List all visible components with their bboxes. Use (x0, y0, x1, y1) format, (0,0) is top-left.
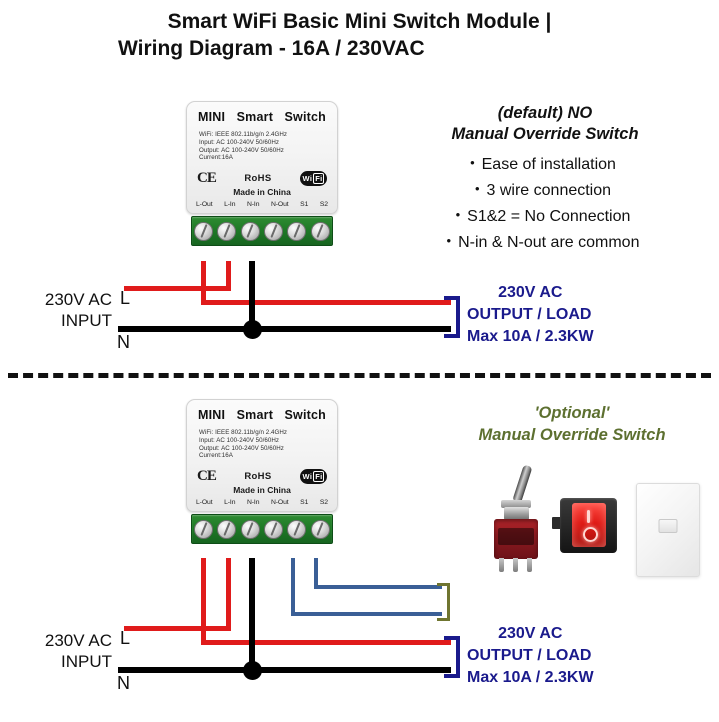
neutral-junction-dot-top (243, 320, 262, 339)
title-line-2: Wiring Diagram - 16A / 230VAC (0, 35, 719, 62)
top-live-label: L (120, 288, 130, 309)
spec-current: Current:16A (199, 154, 329, 162)
ce-mark-icon: CE (197, 170, 216, 187)
module-body-bottom: MINI Smart Switch WiFi: IEEE 802.11b/g/n… (186, 399, 338, 512)
brand-word-mini: MINI (198, 110, 225, 124)
top-output-line-2: OUTPUT / LOAD (467, 304, 594, 326)
output-bracket-top (444, 296, 460, 338)
bottom-heading-line-2: Manual Override Switch (425, 424, 719, 446)
ce-mark-icon: CE (197, 468, 216, 485)
terminal-labels-top: L-Out L-In N-In N-Out S1 S2 (195, 201, 329, 208)
wall-plate-switch-photo[interactable] (636, 483, 700, 577)
spec-current: Current:16A (199, 452, 329, 460)
wire-s1-horizontal-bottom (314, 585, 442, 589)
rocker-switch-photo (552, 495, 624, 557)
brand-word-smart: Smart (237, 110, 273, 124)
wire-s1-vertical-bottom (314, 558, 318, 588)
wire-neutral-vertical-top (249, 261, 255, 329)
spec-input: Input: AC 100-240V 50/60Hz (199, 437, 329, 445)
bottom-output-line-1: 230V AC (467, 623, 594, 645)
wire-l-out-vertical-bottom (201, 558, 206, 644)
page-title: Smart WiFi Basic Mini Switch Module | Wi… (0, 8, 719, 62)
terminal-label-l-out: L-Out (196, 201, 213, 208)
rocker-on-bar-icon (587, 510, 590, 523)
bullet-item: 3 wire connection (375, 177, 711, 203)
spec-output: Output: AC 100-240V 50/60Hz (199, 445, 329, 453)
spec-input: Input: AC 100-240V 50/60Hz (199, 139, 329, 147)
wifi-logo-wi: Wi (303, 174, 313, 183)
terminal-label-s2: S2 (320, 201, 328, 208)
brand-word-mini: MINI (198, 408, 225, 422)
terminal-label-l-out: L-Out (196, 499, 213, 506)
module-brand-row-top: MINI Smart Switch (195, 109, 329, 124)
terminal-screw-icon (217, 222, 236, 241)
top-input-label: 230V AC INPUT (0, 289, 112, 331)
wire-l-in-vertical-bottom (226, 558, 231, 630)
bottom-neutral-label: N (117, 673, 130, 694)
module-marks-row-bottom: CE RoHS WiFi (195, 467, 329, 486)
terminal-label-s1: S1 (300, 201, 308, 208)
toggle-pin-icon (527, 558, 532, 572)
module-body-top: MINI Smart Switch WiFi: IEEE 802.11b/g/n… (186, 101, 338, 214)
spec-wifi: WiFi: IEEE 802.11b/g/n 2.4GHz (199, 131, 329, 139)
neutral-junction-dot-bottom (243, 661, 262, 680)
brand-word-smart: Smart (237, 408, 273, 422)
terminal-screw-icon (241, 222, 260, 241)
terminal-label-n-in: N-In (247, 499, 259, 506)
toggle-body-icon (494, 519, 538, 559)
bottom-live-label: L (120, 628, 130, 649)
bullet-item: S1&2 = No Connection (375, 203, 711, 229)
toggle-switch-photo (486, 462, 546, 572)
bullet-item: Ease of installation (375, 151, 711, 177)
terminal-labels-bottom: L-Out L-In N-In N-Out S1 S2 (195, 499, 329, 506)
terminal-screw-icon (311, 520, 330, 539)
wire-live-output-horizontal-top (201, 300, 451, 305)
module-brand-row-bottom: MINI Smart Switch (195, 407, 329, 422)
rohs-label: RoHS (244, 173, 271, 184)
terminal-label-s1: S1 (300, 499, 308, 506)
terminal-block-top (191, 216, 333, 246)
top-output-label: 230V AC OUTPUT / LOAD Max 10A / 2.3KW (467, 282, 594, 348)
override-switch-bracket (437, 583, 450, 621)
wire-neutral-horizontal-top (118, 326, 451, 332)
brand-word-switch: Switch (285, 408, 326, 422)
module-specs-top: WiFi: IEEE 802.11b/g/n 2.4GHz Input: AC … (195, 131, 329, 162)
top-bullet-list: Ease of installation 3 wire connection S… (375, 151, 711, 255)
bullet-item: N-in & N-out are common (375, 229, 711, 255)
bottom-heading: 'Optional' Manual Override Switch (425, 402, 719, 446)
top-input-label-line-1: 230V AC (0, 289, 112, 310)
smart-switch-module-top: MINI Smart Switch WiFi: IEEE 802.11b/g/n… (186, 101, 338, 246)
terminal-screw-icon (217, 520, 236, 539)
top-input-label-line-2: INPUT (0, 310, 112, 331)
terminal-block-bottom (191, 514, 333, 544)
top-neutral-label: N (117, 332, 130, 353)
rohs-label: RoHS (244, 471, 271, 482)
wire-neutral-vertical-bottom (249, 558, 255, 670)
brand-word-switch: Switch (285, 110, 326, 124)
bottom-output-line-3: Max 10A / 2.3KW (467, 667, 594, 689)
bottom-output-line-2: OUTPUT / LOAD (467, 645, 594, 667)
terminal-label-n-in: N-In (247, 201, 259, 208)
terminal-label-n-out: N-Out (271, 201, 289, 208)
terminal-screw-icon (287, 222, 306, 241)
spec-wifi: WiFi: IEEE 802.11b/g/n 2.4GHz (199, 429, 329, 437)
section-divider (8, 373, 711, 378)
wifi-logo-icon: WiFi (300, 171, 327, 186)
terminal-screw-icon (311, 222, 330, 241)
wire-live-input-horizontal-bottom (124, 626, 231, 631)
top-output-line-1: 230V AC (467, 282, 594, 304)
terminal-screw-icon (241, 520, 260, 539)
toggle-lever-icon (512, 464, 532, 503)
wifi-logo-fi: Fi (313, 173, 324, 184)
wifi-logo-wi: Wi (303, 472, 313, 481)
bottom-input-label-line-2: INPUT (0, 651, 112, 672)
wire-l-in-vertical-top (226, 261, 231, 287)
top-heading-line-1: (default) NO (385, 103, 705, 124)
terminal-label-n-out: N-Out (271, 499, 289, 506)
wifi-logo-icon: WiFi (300, 469, 327, 484)
terminal-screw-icon (264, 520, 283, 539)
terminal-screw-icon (264, 222, 283, 241)
wifi-logo-fi: Fi (313, 471, 324, 482)
wall-plate-button-icon[interactable] (659, 519, 678, 533)
module-marks-row-top: CE RoHS WiFi (195, 169, 329, 188)
module-specs-bottom: WiFi: IEEE 802.11b/g/n 2.4GHz Input: AC … (195, 429, 329, 460)
terminal-screw-icon (287, 520, 306, 539)
made-in-label: Made in China (195, 187, 329, 197)
bottom-input-label-line-1: 230V AC (0, 630, 112, 651)
toggle-pin-icon (499, 558, 504, 572)
rocker-off-circle-icon (583, 527, 598, 542)
terminal-screw-icon (194, 520, 213, 539)
terminal-label-l-in: L-In (224, 201, 235, 208)
terminal-label-s2: S2 (320, 499, 328, 506)
made-in-label: Made in China (195, 485, 329, 495)
top-output-line-3: Max 10A / 2.3KW (467, 326, 594, 348)
wire-s2-vertical-bottom (291, 558, 295, 616)
output-bracket-bottom (444, 636, 460, 678)
bottom-heading-line-1: 'Optional' (425, 402, 719, 424)
title-line-1: Smart WiFi Basic Mini Switch Module | (168, 10, 552, 33)
wire-live-output-horizontal-bottom (201, 640, 451, 645)
top-heading-line-2: Manual Override Switch (385, 124, 705, 145)
bottom-input-label: 230V AC INPUT (0, 630, 112, 672)
smart-switch-module-bottom: MINI Smart Switch WiFi: IEEE 802.11b/g/n… (186, 399, 338, 544)
wire-s2-horizontal-bottom (291, 612, 442, 616)
spec-output: Output: AC 100-240V 50/60Hz (199, 147, 329, 155)
terminal-screw-icon (194, 222, 213, 241)
terminal-label-l-in: L-In (224, 499, 235, 506)
bottom-output-label: 230V AC OUTPUT / LOAD Max 10A / 2.3KW (467, 623, 594, 689)
wire-neutral-horizontal-bottom (118, 667, 451, 673)
wire-live-input-horizontal-top (124, 286, 231, 291)
wire-l-out-vertical-top (201, 261, 206, 303)
top-heading: (default) NO Manual Override Switch (385, 103, 705, 145)
toggle-pin-icon (513, 558, 518, 572)
